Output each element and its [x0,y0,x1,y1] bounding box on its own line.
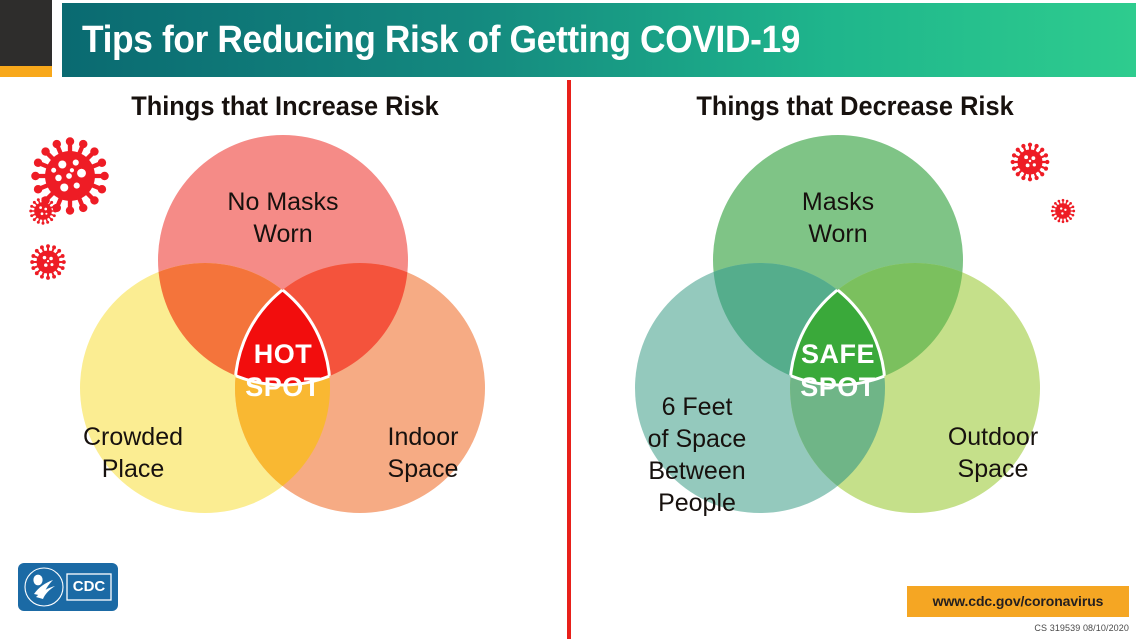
cdc-url-text: www.cdc.gov/coronavirus [907,586,1129,617]
label-crowded-place-line1: Crowded [83,423,183,451]
heading-decrease-risk: Things that Decrease Risk [615,90,1094,122]
label-masks-worn-line1: Masks [802,188,874,216]
label-indoor-space-line1: Indoor [388,423,459,451]
header-accent-block [0,0,52,66]
label-six-feet-line4: People [658,489,736,517]
label-six-feet-line2: of Space [648,425,747,453]
cdc-url-badge[interactable]: www.cdc.gov/coronavirus [907,586,1129,617]
label-outdoor-space-line1: Outdoor [948,423,1038,451]
virus-icon [26,240,70,284]
heading-increase-risk: Things that Increase Risk [45,90,524,122]
venn-diagram-increase-risk: No Masks Worn Crowded Place Indoor Space… [60,120,520,560]
label-hot-spot-line1: HOT [254,339,313,369]
label-six-feet-line3: Between [648,457,745,485]
label-outdoor-space-line2: Space [958,455,1029,483]
label-no-masks-worn-line2: Worn [253,220,312,248]
label-no-masks-worn-line1: No Masks [227,188,338,216]
virus-icon [1006,138,1054,186]
label-masks-worn-line2: Worn [808,220,867,248]
label-safe-spot-line2: SPOT [800,372,876,402]
page-title: Tips for Reducing Risk of Getting COVID-… [82,13,1012,67]
document-id: CS 319539 08/10/2020 [929,621,1129,635]
section-divider [567,80,571,639]
virus-icon [1048,196,1078,226]
label-indoor-space-line2: Space [388,455,459,483]
label-safe-spot-line1: SAFE [801,339,875,369]
cdc-logo-text: CDC [73,578,106,595]
label-crowded-place-line2: Place [102,455,165,483]
label-six-feet-line1: 6 Feet [662,393,733,421]
header-accent-bar [0,66,52,77]
infographic-poster: Tips for Reducing Risk of Getting COVID-… [0,0,1136,639]
virus-icon [26,194,60,228]
label-hot-spot-line2: SPOT [245,372,321,402]
venn-diagram-decrease-risk: Masks Worn 6 Feet of Space Between Peopl… [615,120,1075,560]
cdc-logo: CDC [18,563,118,611]
